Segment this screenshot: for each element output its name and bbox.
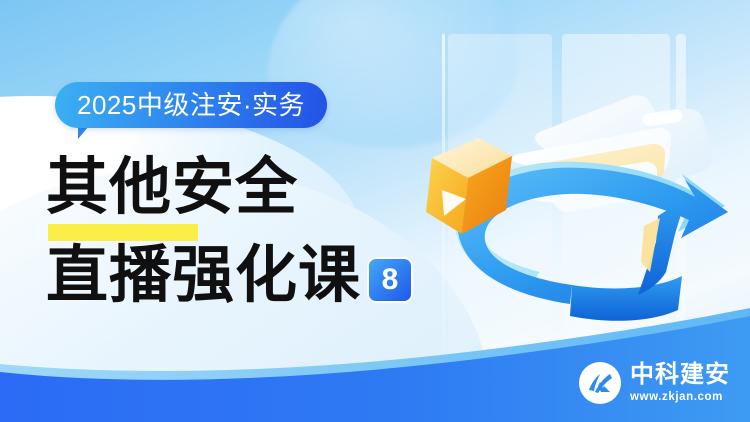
headline-group: 其他安全 直播强化课 8 — [46, 148, 413, 308]
episode-number-badge: 8 — [367, 257, 413, 303]
brand-logo: 中科建安 www.zkjan.com — [579, 362, 730, 404]
course-category-badge: 2025中级注安·实务 — [55, 82, 327, 128]
brand-url: www.zkjan.com — [630, 392, 730, 404]
brand-name: 中科建安 — [630, 363, 730, 387]
course-banner: 2025中级注安·实务 其他安全 直播强化课 8 中科建安 www.zkjan.… — [0, 0, 750, 422]
page-title-line-2: 直播强化课 — [46, 242, 361, 308]
person-arrow-circle-icon — [579, 362, 621, 404]
badge-label: 2025中级注安·实务 — [77, 92, 305, 118]
headline-row-1: 其他安全 — [46, 148, 413, 220]
page-title-line-1: 其他安全 — [46, 154, 298, 220]
headline-row-2: 直播强化课 8 — [46, 236, 413, 308]
brand-text: 中科建安 www.zkjan.com — [630, 363, 730, 404]
